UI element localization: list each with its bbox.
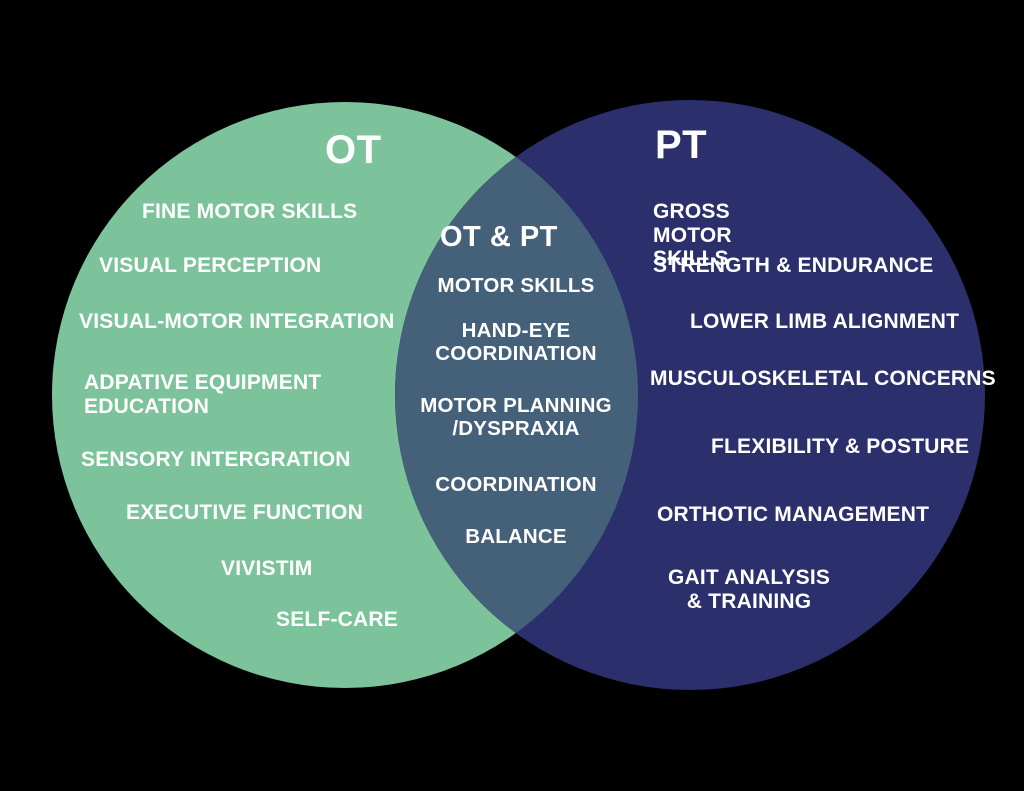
shared-item-hand-eye-coordination: HAND-EYE COORDINATION bbox=[435, 320, 596, 366]
shared-item-motor-planning-dyspraxia: MOTOR PLANNING /DYSPRAXIA bbox=[420, 395, 611, 441]
ot-item-executive-function: EXECUTIVE FUNCTION bbox=[126, 501, 363, 525]
ot-item-sensory-intergration: SENSORY INTERGRATION bbox=[81, 448, 351, 472]
ot-item-visual-motor-integration: VISUAL-MOTOR INTEGRATION bbox=[79, 310, 395, 334]
ot-item-self-care: SELF-CARE bbox=[276, 608, 398, 632]
ot-item-fine-motor-skills: FINE MOTOR SKILLS bbox=[142, 200, 357, 224]
pt-title: PT bbox=[655, 125, 707, 165]
shared-item-motor-skills: MOTOR SKILLS bbox=[438, 275, 595, 298]
pt-item-musculoskeletal-concerns: MUSCULOSKELETAL CONCERNS bbox=[650, 367, 996, 391]
venn-diagram: OT PT OT & PT FINE MOTOR SKILLS VISUAL P… bbox=[0, 0, 1024, 791]
ot-title: OT bbox=[325, 130, 382, 170]
pt-item-orthotic-management: ORTHOTIC MANAGEMENT bbox=[657, 503, 929, 527]
pt-item-flexibility-and-posture: FLEXIBILITY & POSTURE bbox=[711, 435, 969, 459]
pt-item-lower-limb-alignment: LOWER LIMB ALIGNMENT bbox=[690, 310, 959, 334]
shared-item-balance: BALANCE bbox=[465, 526, 567, 549]
ot-item-visual-perception: VISUAL PERCEPTION bbox=[99, 254, 321, 278]
shared-item-coordination: COORDINATION bbox=[435, 474, 596, 497]
pt-item-gait-analysis-and-training: GAIT ANALYSIS & TRAINING bbox=[668, 566, 830, 613]
ot-and-pt-title: OT & PT bbox=[440, 223, 558, 252]
pt-item-strength-and-endurance: STRENGTH & ENDURANCE bbox=[653, 254, 934, 278]
ot-item-vivistim: VIVISTIM bbox=[221, 557, 312, 581]
ot-item-adpative-equipment-education: ADPATIVE EQUIPMENT EDUCATION bbox=[84, 371, 321, 418]
